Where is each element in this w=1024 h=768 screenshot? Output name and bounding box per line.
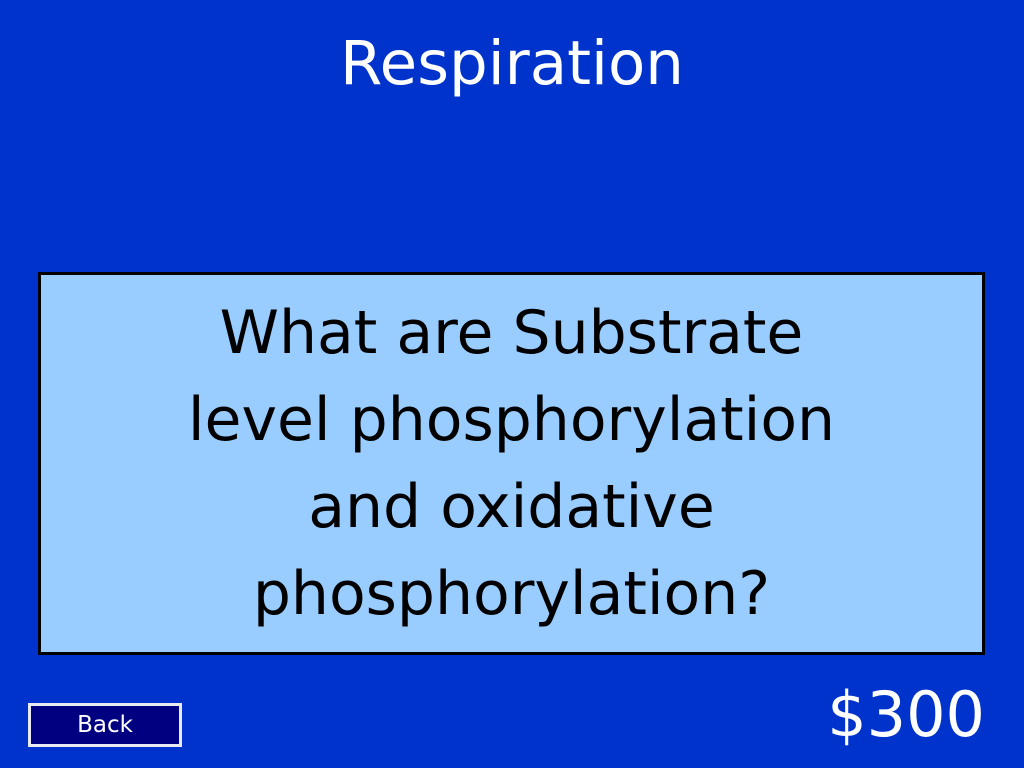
question-value: $300 [827,679,985,751]
answer-text: What are Substrate level phosphorylation… [41,290,982,638]
back-button[interactable]: Back [28,703,182,747]
back-button-label: Back [77,712,133,738]
answer-line-2: level phosphorylation [47,377,976,464]
answer-line-4: phosphorylation? [47,551,976,638]
category-title: Respiration [0,27,1024,101]
answer-panel: What are Substrate level phosphorylation… [38,272,985,655]
answer-line-1: What are Substrate [47,290,976,377]
answer-line-3: and oxidative [47,464,976,551]
jeopardy-slide: Respiration What are Substrate level pho… [0,0,1024,768]
